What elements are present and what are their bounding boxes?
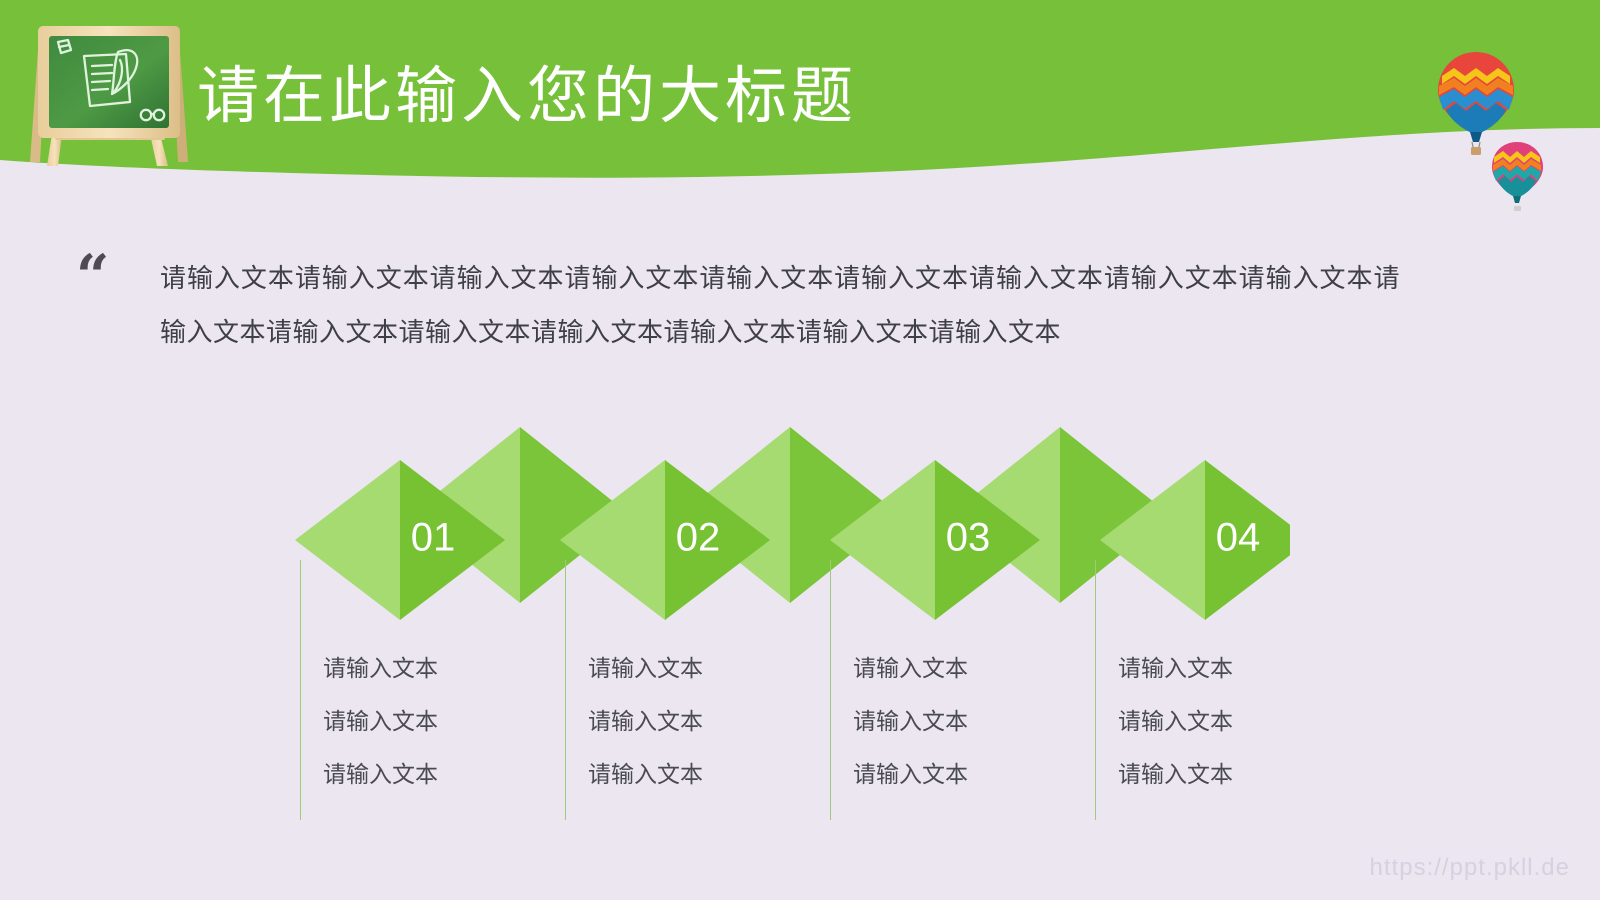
chalkboard-easel-icon: [22, 16, 200, 168]
step-text-line: 请输入文本: [588, 643, 815, 696]
step-text-line: 请输入文本: [1118, 643, 1345, 696]
hot-air-balloon-icon: [1490, 140, 1545, 212]
quote-open-icon: “: [76, 252, 109, 300]
step-column-03: 请输入文本 请输入文本 请输入文本: [830, 560, 1080, 820]
step-number: 04: [1216, 516, 1261, 560]
page-title: 请在此输入您的大标题: [197, 58, 857, 136]
step-text-line: 请输入文本: [1118, 696, 1345, 749]
step-column-01: 请输入文本 请输入文本 请输入文本: [300, 560, 550, 820]
body-paragraph: 请输入文本请输入文本请输入文本请输入文本请输入文本请输入文本请输入文本请输入文本…: [160, 252, 1400, 360]
step-text-line: 请输入文本: [588, 749, 815, 802]
step-text-line: 请输入文本: [323, 643, 550, 696]
step-text-line: 请输入文本: [1118, 749, 1345, 802]
footer-url[interactable]: https://ppt.pkll.de: [1370, 854, 1570, 882]
step-text-line: 请输入文本: [853, 696, 1080, 749]
step-number: 03: [946, 516, 991, 560]
slide-canvas: 请在此输入您的大标题: [0, 0, 1600, 900]
step-text-line: 请输入文本: [323, 696, 550, 749]
step-text-line: 请输入文本: [588, 696, 815, 749]
step-column-04: 请输入文本 请输入文本 请输入文本: [1095, 560, 1345, 820]
step-text-line: 请输入文本: [853, 643, 1080, 696]
step-text-columns: 请输入文本 请输入文本 请输入文本 请输入文本 请输入文本 请输入文本 请输入文…: [300, 560, 1300, 820]
step-text-line: 请输入文本: [323, 749, 550, 802]
step-text-line: 请输入文本: [853, 749, 1080, 802]
step-number: 01: [411, 516, 456, 560]
step-number: 02: [676, 516, 721, 560]
step-column-02: 请输入文本 请输入文本 请输入文本: [565, 560, 815, 820]
